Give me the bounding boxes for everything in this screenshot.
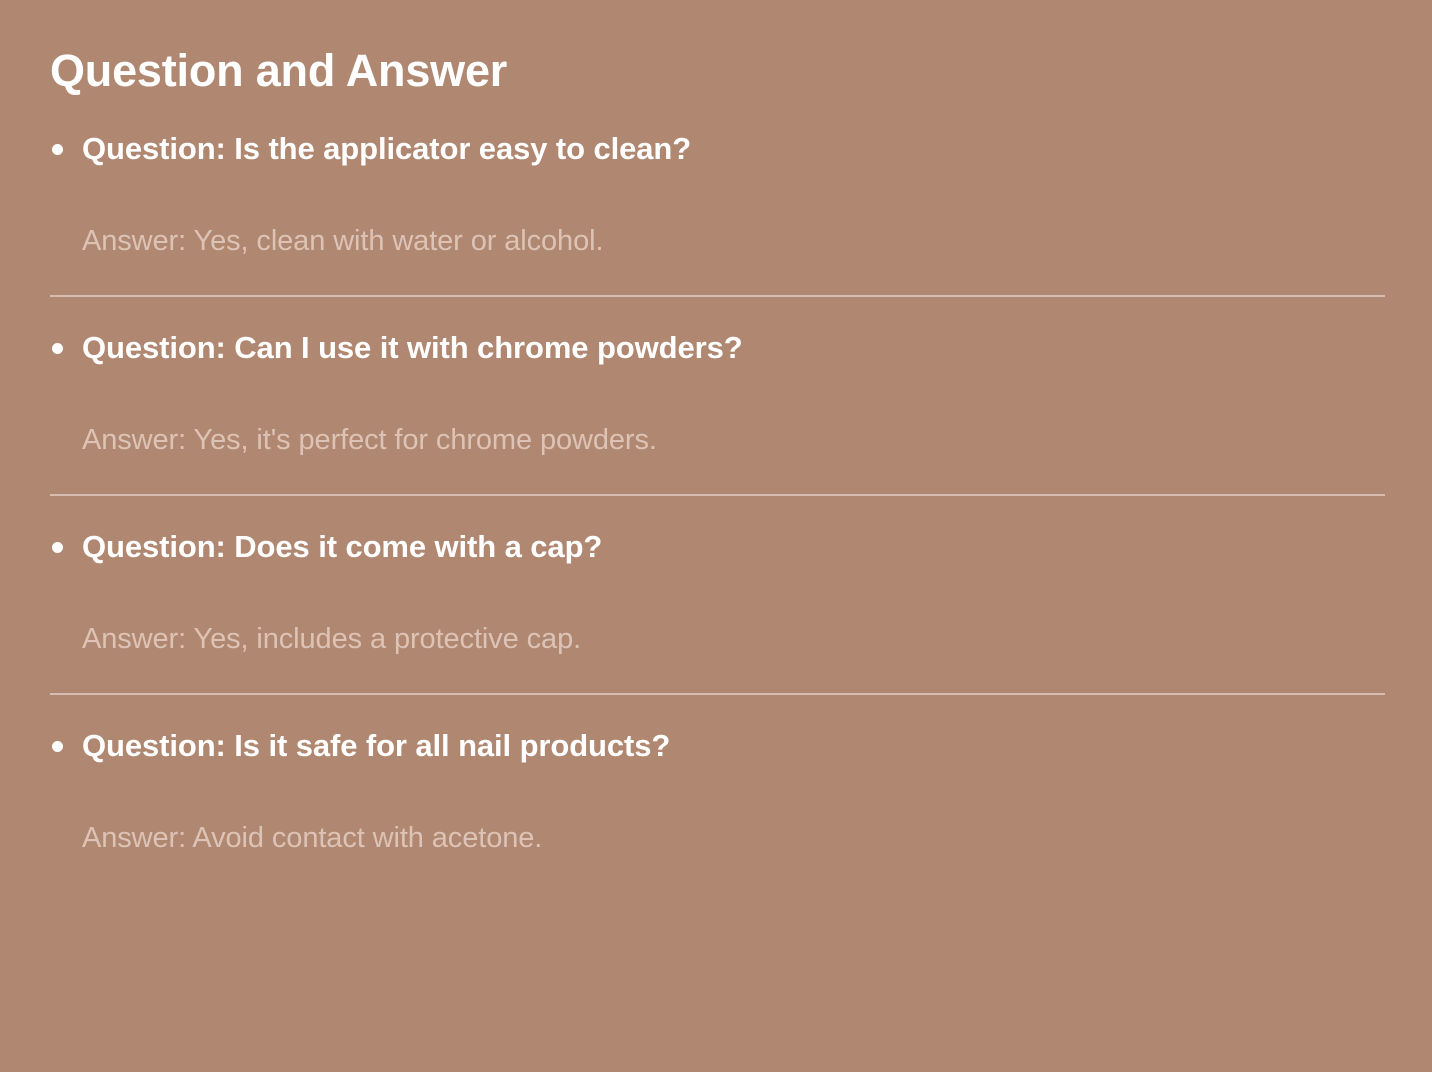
answer-text: Answer: Yes, clean with water or alcohol… [50,169,1385,295]
answer-text: Answer: Yes, it's perfect for chrome pow… [50,368,1385,494]
question-row: Question: Is the applicator easy to clea… [50,129,1385,169]
bullet-dot-icon [52,741,63,752]
question-text: Question: Is it safe for all nail produc… [82,726,1385,766]
question-and-answer-panel: Question and Answer Question: Is the app… [0,0,1432,1072]
qa-item: Question: Is the applicator easy to clea… [50,98,1385,295]
qa-item: Question: Is it safe for all nail produc… [50,693,1385,892]
question-text: Question: Can I use it with chrome powde… [82,328,1385,368]
question-row: Question: Is it safe for all nail produc… [50,726,1385,766]
question-row: Question: Does it come with a cap? [50,527,1385,567]
qa-item: Question: Can I use it with chrome powde… [50,295,1385,494]
answer-text: Answer: Yes, includes a protective cap. [50,567,1385,693]
bullet-dot-icon [52,542,63,553]
question-text: Question: Is the applicator easy to clea… [82,129,1385,169]
qa-list: Question: Is the applicator easy to clea… [50,98,1385,892]
page-title: Question and Answer [50,0,1385,98]
question-row: Question: Can I use it with chrome powde… [50,328,1385,368]
bullet-dot-icon [52,144,63,155]
answer-text: Answer: Avoid contact with acetone. [50,766,1385,892]
bullet-dot-icon [52,343,63,354]
qa-item: Question: Does it come with a cap? Answe… [50,494,1385,693]
question-text: Question: Does it come with a cap? [82,527,1385,567]
